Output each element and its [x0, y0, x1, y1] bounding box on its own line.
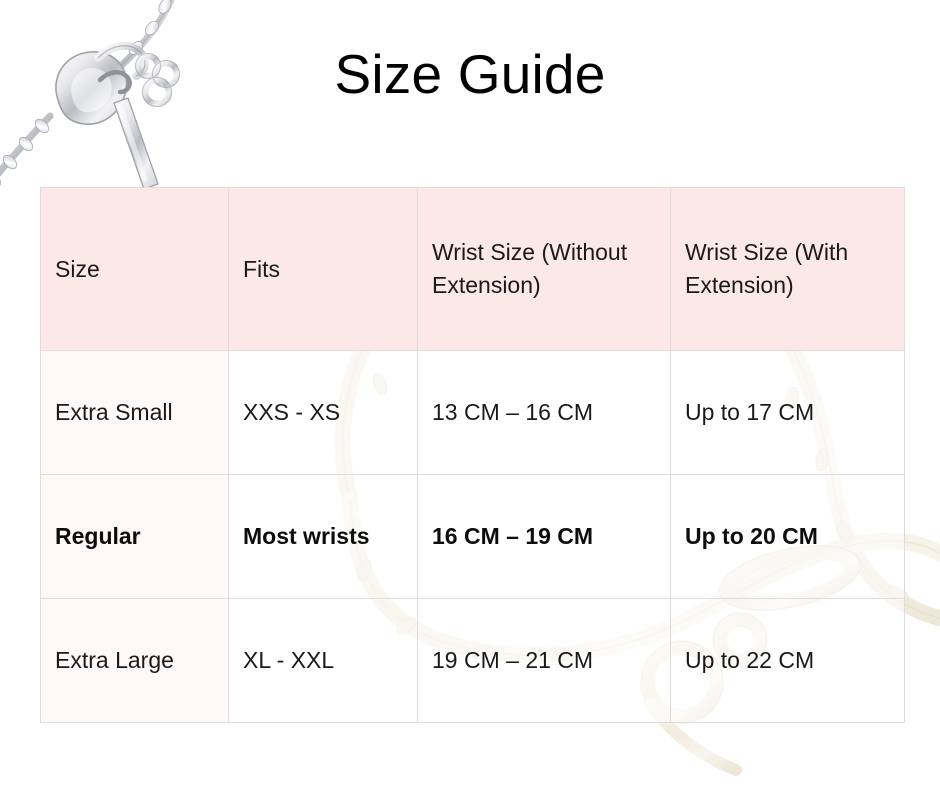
- cell-wrist-without-extension-text: 16 CM – 19 CM: [432, 520, 656, 553]
- table-header: Size Fits Wrist Size (Without Extension)…: [41, 188, 905, 351]
- column-header-fits-label: Fits: [243, 253, 403, 286]
- cell-wrist-without-extension-text: 19 CM – 21 CM: [432, 644, 656, 677]
- column-header-fits: Fits: [229, 188, 418, 351]
- cell-fits: XL - XXL: [229, 599, 418, 723]
- column-header-wrist-size-without-extension-label: Wrist Size (Without Extension): [432, 236, 656, 301]
- cell-fits: Most wrists: [229, 475, 418, 599]
- cell-size-text: Extra Small: [55, 396, 214, 429]
- column-header-size: Size: [41, 188, 229, 351]
- cell-size: Extra Large: [41, 599, 229, 723]
- cell-fits-text: Most wrists: [243, 520, 403, 553]
- table-row: Regular Most wrists 16 CM – 19 CM Up to …: [41, 475, 905, 599]
- column-header-wrist-size-with-extension: Wrist Size (With Extension): [671, 188, 905, 351]
- table-header-row: Size Fits Wrist Size (Without Extension)…: [41, 188, 905, 351]
- cell-size: Regular: [41, 475, 229, 599]
- page-title: Size Guide: [0, 44, 940, 105]
- size-guide-table: Size Fits Wrist Size (Without Extension)…: [40, 187, 905, 723]
- cell-wrist-without-extension: 16 CM – 19 CM: [418, 475, 671, 599]
- cell-fits-text: XXS - XS: [243, 396, 403, 429]
- column-header-wrist-size-with-extension-label: Wrist Size (With Extension): [685, 236, 890, 301]
- cell-fits: XXS - XS: [229, 351, 418, 475]
- table-row: Extra Large XL - XXL 19 CM – 21 CM Up to…: [41, 599, 905, 723]
- table-row: Extra Small XXS - XS 13 CM – 16 CM Up to…: [41, 351, 905, 475]
- cell-wrist-with-extension-text: Up to 22 CM: [685, 644, 890, 677]
- cell-size: Extra Small: [41, 351, 229, 475]
- cell-wrist-with-extension: Up to 20 CM: [671, 475, 905, 599]
- cell-size-text: Regular: [55, 520, 214, 553]
- cell-wrist-with-extension-text: Up to 17 CM: [685, 396, 890, 429]
- size-guide-table-container: Size Fits Wrist Size (Without Extension)…: [40, 187, 904, 723]
- cell-wrist-with-extension-text: Up to 20 CM: [685, 520, 890, 553]
- column-header-wrist-size-without-extension: Wrist Size (Without Extension): [418, 188, 671, 351]
- size-guide-page: Size Guide Size Fits Wrist Size (Without…: [0, 0, 940, 788]
- column-header-size-label: Size: [55, 253, 214, 286]
- cell-fits-text: XL - XXL: [243, 644, 403, 677]
- cell-wrist-with-extension: Up to 17 CM: [671, 351, 905, 475]
- cell-size-text: Extra Large: [55, 644, 214, 677]
- table-body: Extra Small XXS - XS 13 CM – 16 CM Up to…: [41, 351, 905, 723]
- cell-wrist-without-extension-text: 13 CM – 16 CM: [432, 396, 656, 429]
- cell-wrist-without-extension: 13 CM – 16 CM: [418, 351, 671, 475]
- cell-wrist-with-extension: Up to 22 CM: [671, 599, 905, 723]
- cell-wrist-without-extension: 19 CM – 21 CM: [418, 599, 671, 723]
